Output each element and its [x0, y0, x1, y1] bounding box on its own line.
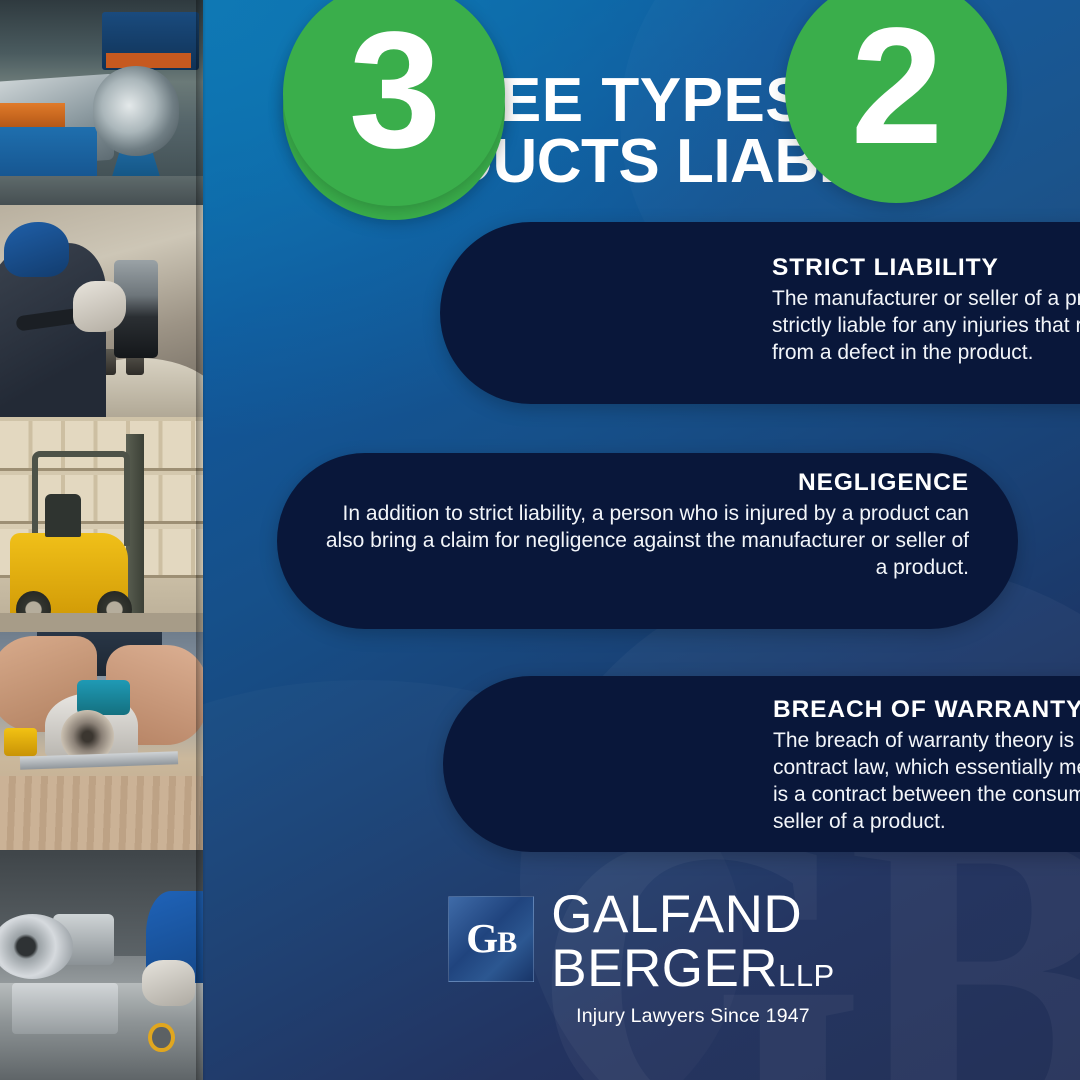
item-1-title: STRICT LIABILITY	[772, 254, 1080, 282]
strip-edge-shadow	[196, 0, 206, 1080]
item-2-card: NEGLIGENCE In addition to strict liabili…	[277, 453, 1018, 629]
infographic-canvas: GB THREE TYPES OF PRODUCTS LIABILITY STR…	[0, 0, 1080, 1080]
item-3-title: BREACH OF WARRANTY	[773, 696, 1080, 724]
item-3-body: The breach of warranty theory is based o…	[773, 728, 1080, 836]
lathe-chuck	[0, 914, 73, 978]
firm-name-berger: BERGER	[551, 942, 778, 996]
tape-measure	[4, 728, 36, 756]
main-panel: GB THREE TYPES OF PRODUCTS LIABILITY STR…	[203, 0, 1080, 1080]
firm-name-block: GALFAND BERGERLLP Injury Lawyers Since 1…	[551, 888, 835, 1028]
firm-suffix-llp: LLP	[778, 960, 835, 992]
firm-name-line-1: GALFAND	[551, 888, 802, 942]
item-1-card: STRICT LIABILITY The manufacturer or sel…	[440, 222, 1080, 404]
item-3-text: BREACH OF WARRANTY The breach of warrant…	[773, 696, 1080, 836]
item-1-body: The manufacturer or seller of a product …	[772, 286, 1080, 367]
item-1-text: STRICT LIABILITY The manufacturer or sel…	[772, 254, 1080, 367]
gb-monogram-letters: GB	[466, 918, 516, 959]
photo-circular-saw-cutting-wood	[0, 632, 203, 850]
photo-strip	[0, 0, 203, 1080]
item-2-number: 2	[851, 4, 941, 170]
machine-accent-bar	[106, 53, 191, 67]
saw-base-plate	[20, 751, 179, 770]
monogram-b: B	[497, 926, 516, 959]
work-glove	[142, 960, 195, 1006]
safety-helmet	[4, 222, 69, 277]
orange-pallet	[0, 103, 65, 128]
photo-worker-using-pneumatic-grinder	[0, 205, 203, 417]
item-3-card: BREACH OF WARRANTY The breach of warrant…	[443, 676, 1080, 852]
photo-steel-coil-rolling-mill	[0, 0, 203, 205]
gb-monogram-icon: GB	[448, 896, 534, 982]
forklift-seat	[45, 494, 82, 537]
item-2-title: NEGLIGENCE	[319, 469, 969, 497]
item-3-number: 3	[349, 8, 439, 174]
firm-logo: GB GALFAND BERGERLLP Injury Lawyers Sinc…	[203, 888, 1080, 1028]
wood-plank	[0, 776, 203, 850]
warehouse-floor	[0, 613, 203, 632]
item-2-text: NEGLIGENCE In addition to strict liabili…	[319, 469, 969, 582]
photo-machinist-operating-lathe	[0, 850, 203, 1080]
blue-coil-stand	[110, 115, 163, 185]
item-2-body: In addition to strict liability, a perso…	[319, 501, 969, 582]
work-glove	[73, 281, 126, 332]
factory-floor	[0, 176, 203, 205]
handwheel	[148, 1023, 174, 1053]
firm-name-line-2: BERGERLLP	[551, 942, 835, 996]
photo-forklift-in-warehouse	[0, 417, 203, 632]
lathe-carriage	[12, 983, 118, 1034]
monogram-g: G	[466, 915, 497, 961]
firm-tagline: Injury Lawyers Since 1947	[576, 1005, 810, 1028]
